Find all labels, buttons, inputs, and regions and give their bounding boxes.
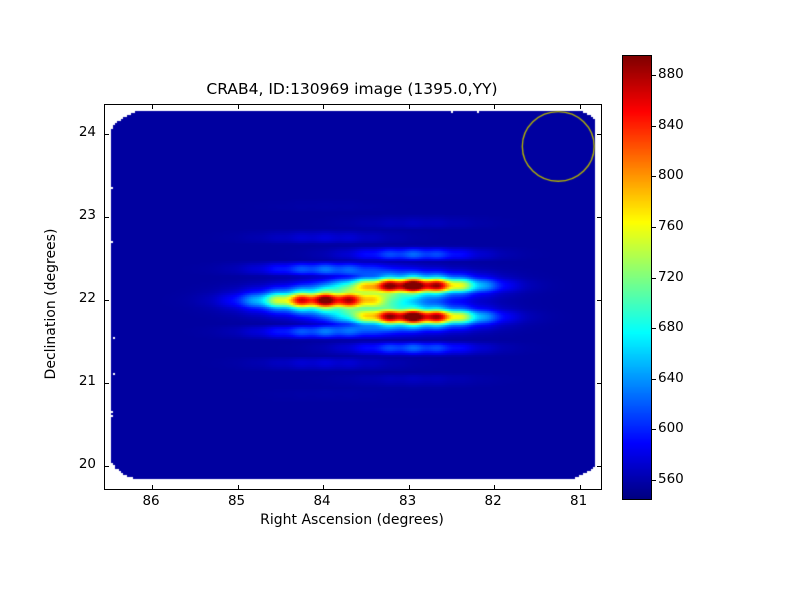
figure-canvas: CRAB4, ID:130969 image (1395.0,YY) 86858… xyxy=(0,0,800,600)
x-tick-mark xyxy=(238,485,239,489)
y-tick-label-text: 23 xyxy=(79,207,96,223)
image-axes[interactable] xyxy=(104,104,602,490)
y-tick-mark xyxy=(597,300,601,301)
x-tick-mark xyxy=(580,485,581,489)
colorbar-tick-label: 800 xyxy=(658,167,684,183)
y-tick-mark xyxy=(105,466,109,467)
y-tick-label-text: 20 xyxy=(79,456,96,472)
x-tick-mark xyxy=(152,485,153,489)
colorbar-tick-mark xyxy=(651,75,656,76)
page-title: CRAB4, ID:130969 image (1395.0,YY) xyxy=(104,80,600,98)
x-tick-label: 84 xyxy=(313,493,330,509)
x-tick-mark xyxy=(494,485,495,489)
colorbar-tick-mark xyxy=(651,480,656,481)
y-tick-mark xyxy=(597,217,601,218)
colorbar-tick-label: 880 xyxy=(658,66,684,82)
y-tick-label-text: 21 xyxy=(79,373,96,389)
y-axis-label: Declination (degrees) xyxy=(43,112,59,496)
y-tick-label-text: 22 xyxy=(79,290,96,306)
y-tick-mark xyxy=(105,383,109,384)
colorbar-tick-label: 560 xyxy=(658,471,684,487)
colorbar-tick-label: 840 xyxy=(658,117,684,133)
colorbar-tick-mark xyxy=(651,379,656,380)
y-tick-mark xyxy=(105,300,109,301)
colorbar-gradient xyxy=(623,56,651,499)
colorbar-tick-label: 600 xyxy=(658,420,684,436)
x-tick-mark xyxy=(494,105,495,109)
colorbar-tick-mark xyxy=(651,176,656,177)
x-tick-label: 81 xyxy=(570,493,587,509)
x-tick-mark xyxy=(323,105,324,109)
x-tick-label: 86 xyxy=(142,493,159,509)
y-tick-mark xyxy=(105,134,109,135)
y-tick-mark xyxy=(597,466,601,467)
colorbar-tick-label: 760 xyxy=(658,218,684,234)
colorbar-tick-label: 720 xyxy=(658,269,684,285)
colorbar-tick-mark xyxy=(651,328,656,329)
x-tick-mark xyxy=(409,485,410,489)
x-axis-label: Right Ascension (degrees) xyxy=(104,512,600,528)
colorbar-tick-mark xyxy=(651,126,656,127)
x-tick-mark xyxy=(152,105,153,109)
x-tick-label: 82 xyxy=(485,493,502,509)
colorbar-tick-mark xyxy=(651,227,656,228)
x-tick-label: 83 xyxy=(399,493,416,509)
y-tick-mark xyxy=(597,383,601,384)
x-tick-mark xyxy=(238,105,239,109)
x-tick-mark xyxy=(323,485,324,489)
y-tick-mark xyxy=(597,134,601,135)
colorbar-tick-mark xyxy=(651,278,656,279)
x-tick-label: 85 xyxy=(228,493,245,509)
x-tick-mark xyxy=(409,105,410,109)
y-tick-mark xyxy=(105,217,109,218)
sky-image-heatmap xyxy=(105,105,601,489)
colorbar-tick-label: 680 xyxy=(658,319,684,335)
colorbar-tick-mark xyxy=(651,429,656,430)
x-tick-mark xyxy=(580,105,581,109)
colorbar[interactable] xyxy=(622,55,652,500)
y-tick-label-text: 24 xyxy=(79,124,96,140)
colorbar-tick-label: 640 xyxy=(658,370,684,386)
